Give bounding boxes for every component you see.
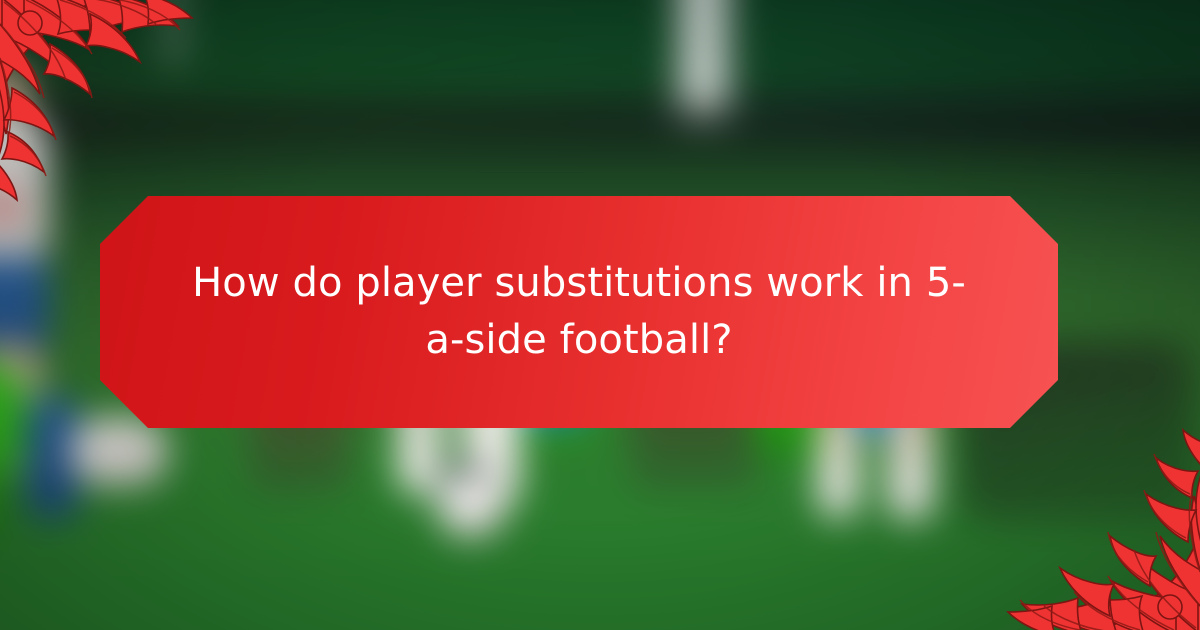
title-banner: How do player substitutions work in 5-a-… <box>100 196 1058 428</box>
page-title: How do player substitutions work in 5-a-… <box>184 255 974 369</box>
share-card: How do player substitutions work in 5-a-… <box>0 0 1200 630</box>
